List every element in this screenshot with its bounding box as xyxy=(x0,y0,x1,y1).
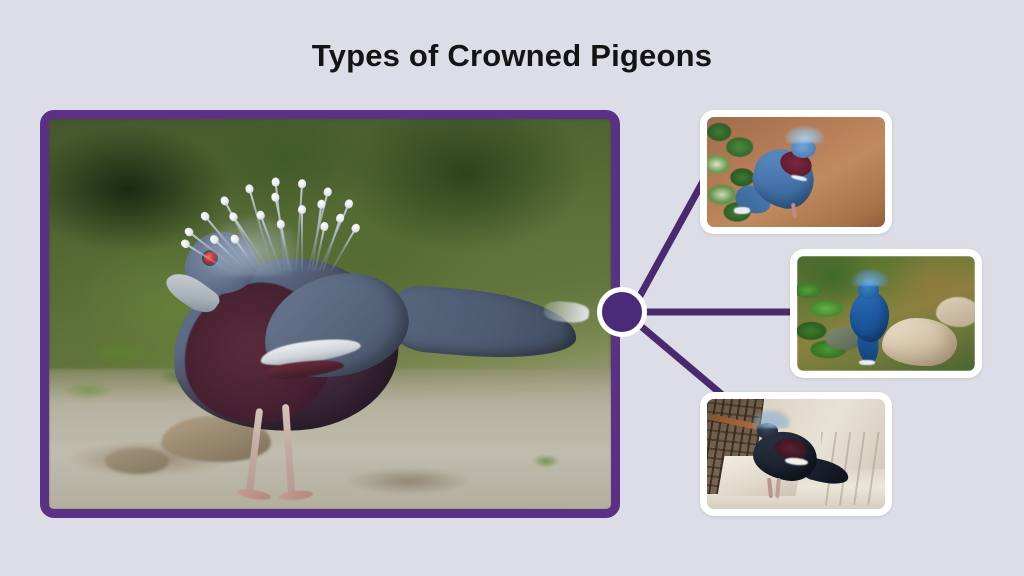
thumb-blue-crowned-pigeon-rocks[interactable] xyxy=(790,249,982,378)
thumb-2-photo xyxy=(797,256,975,371)
thumb-dark-crowned-pigeon-fence[interactable] xyxy=(700,392,892,516)
thumb-1-photo xyxy=(707,117,885,227)
thumb-3-photo xyxy=(707,399,885,509)
fern-foliage xyxy=(797,272,854,364)
grass-sprig xyxy=(526,448,566,470)
pigeon-crest xyxy=(150,154,341,271)
crest-plume xyxy=(301,211,303,271)
page-title: Types of Crowned Pigeons xyxy=(0,38,1024,74)
main-photo-frame[interactable] xyxy=(40,110,620,518)
foreground-rock xyxy=(882,318,957,366)
connector-to-thumb-1 xyxy=(636,176,706,303)
pigeon-crest xyxy=(852,269,888,286)
thumb-blue-crowned-pigeon-dirt[interactable] xyxy=(700,110,892,234)
main-photo xyxy=(49,119,611,509)
connector-to-thumb-3 xyxy=(636,322,726,398)
pigeon-crest xyxy=(785,126,824,144)
diagram-hub-node[interactable] xyxy=(597,287,647,337)
pigeon-crest xyxy=(752,409,791,428)
pigeon-tail-tip xyxy=(859,360,875,366)
pigeon-tail-tip xyxy=(734,207,750,214)
foreground-rock-2 xyxy=(105,448,169,474)
